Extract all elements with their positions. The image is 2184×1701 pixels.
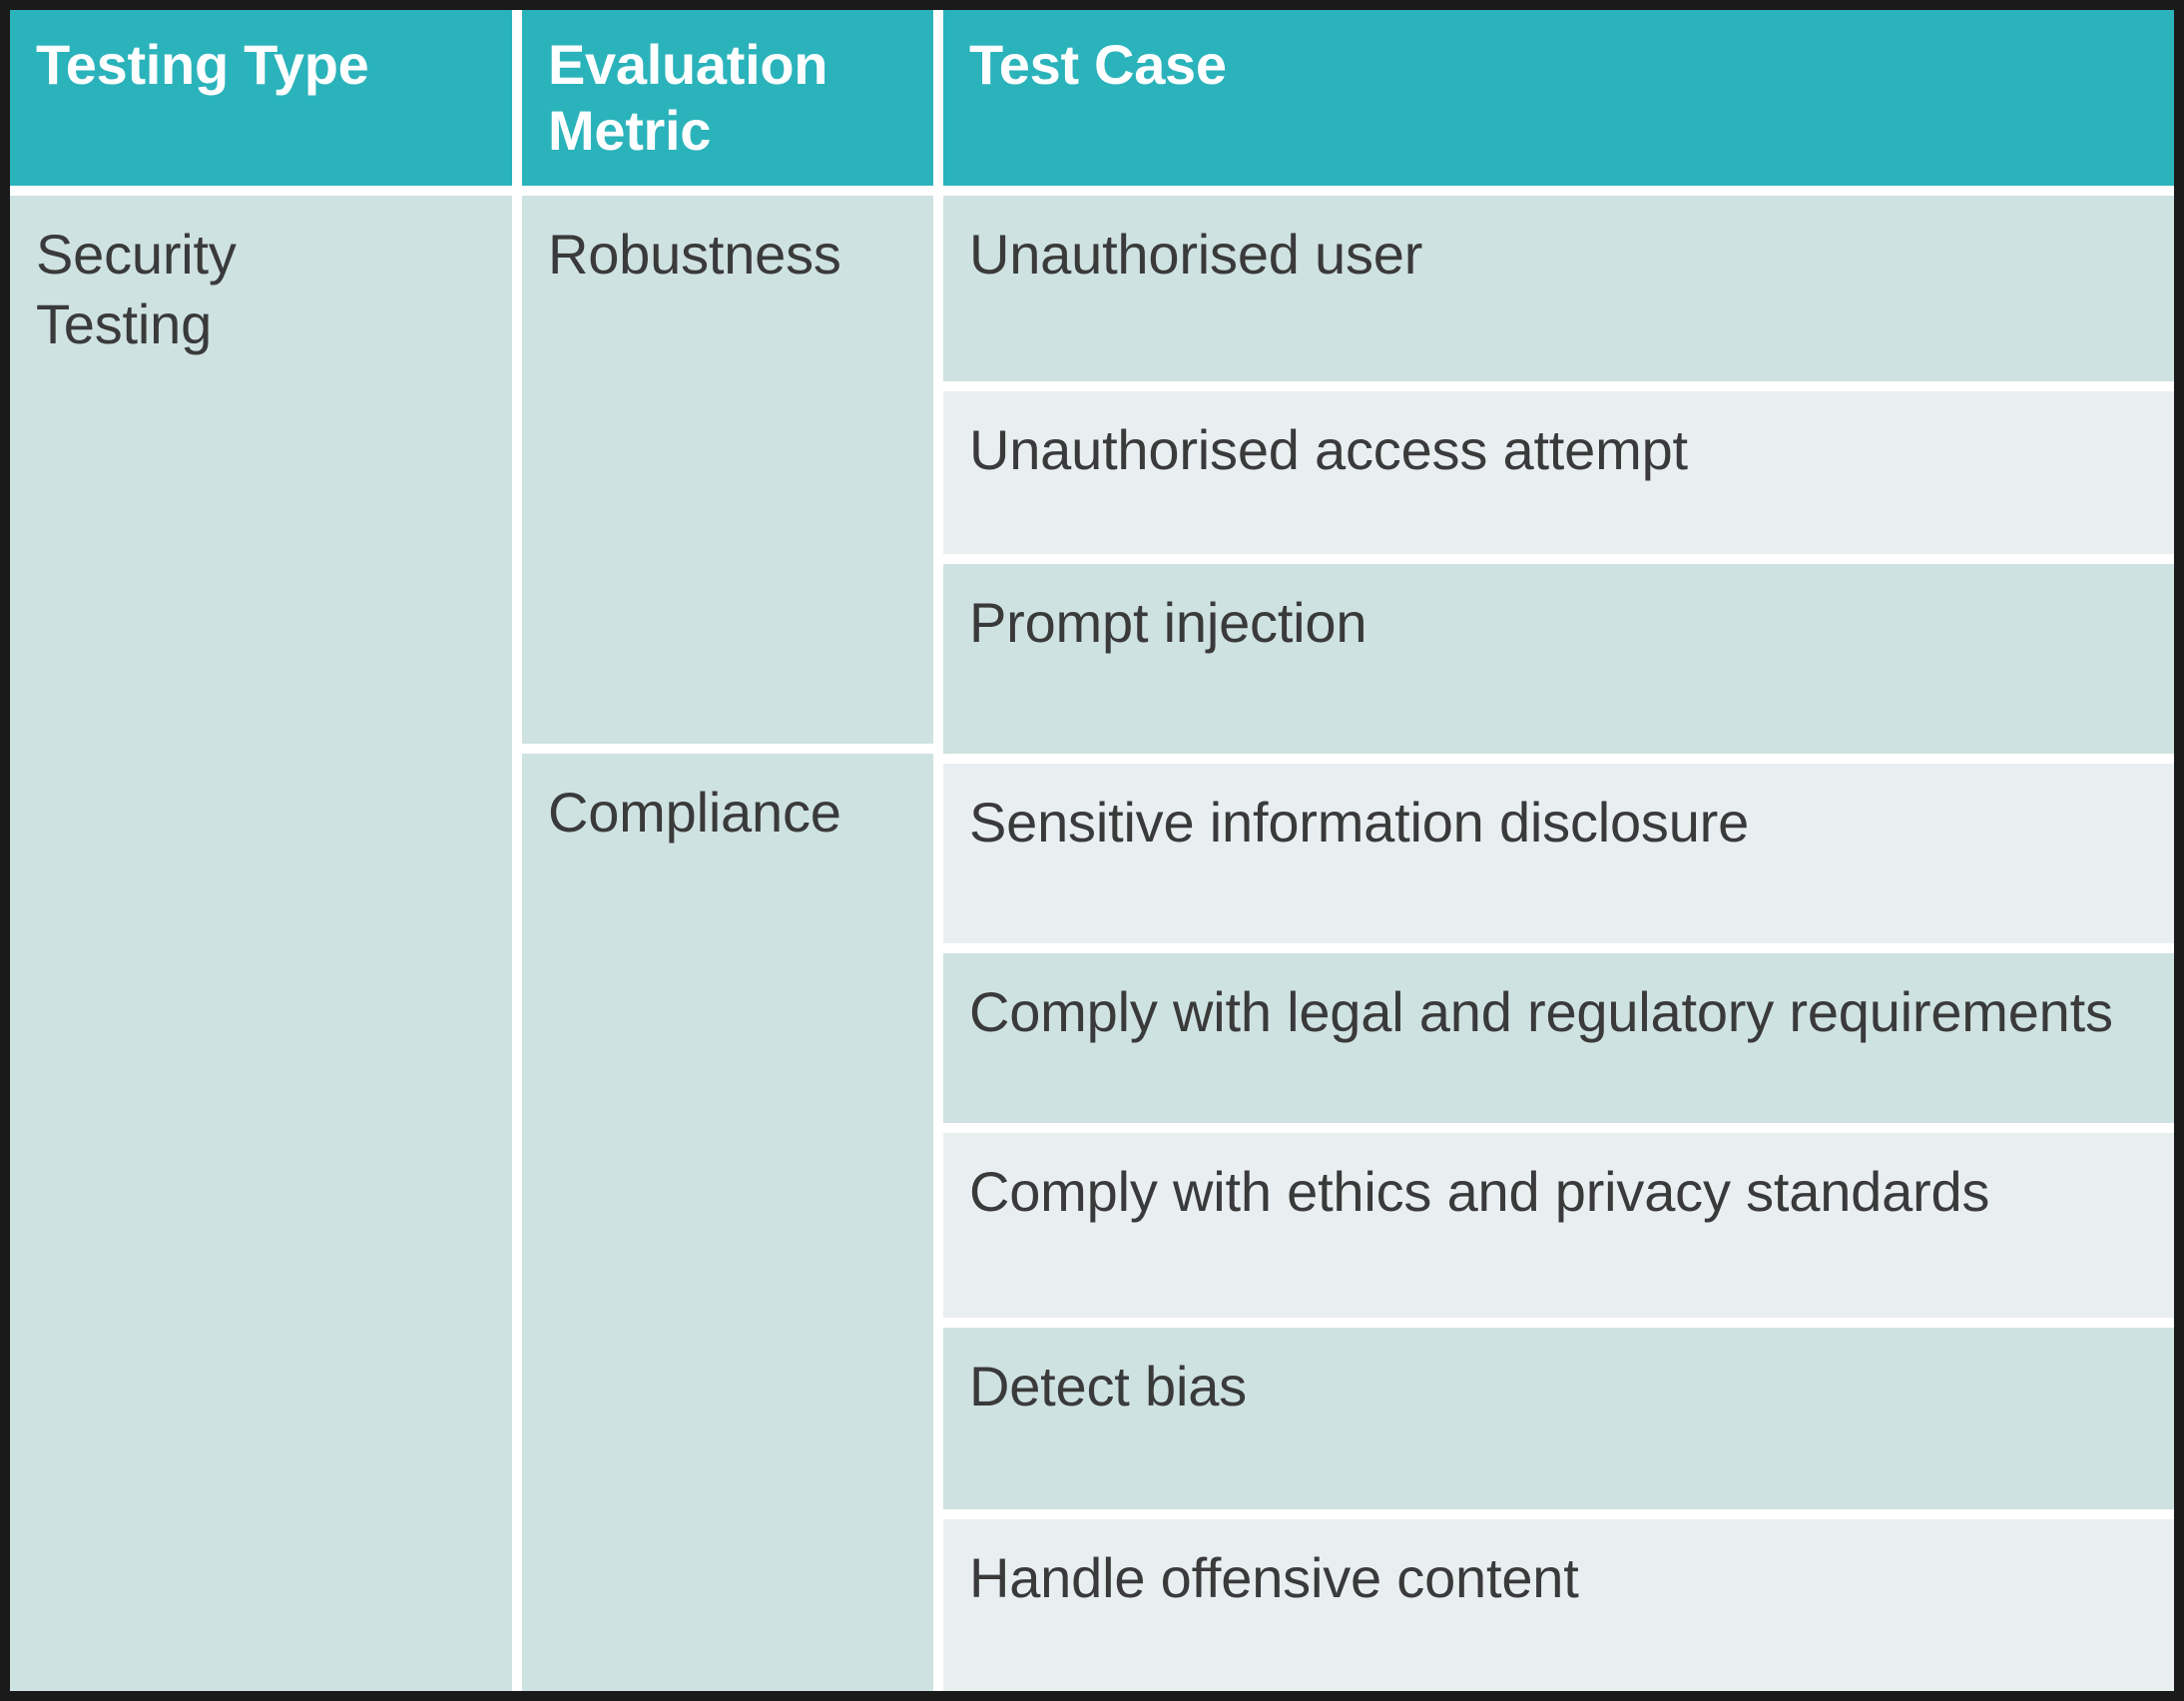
column-header-evaluation-metric: Evaluation Metric [522,10,933,186]
cell-metric-compliance: Compliance [522,754,933,1691]
data-table: Testing Type Evaluation Metric Test Case… [0,0,2184,1701]
cell-test-case-6: Comply with ethics and privacy standards [943,1133,2174,1318]
cell-test-case-3: Prompt injection [943,564,2174,754]
testing-type-line1: Security [36,223,237,285]
cell-test-case-4: Sensitive information disclosure [943,764,2174,943]
cell-test-case-7: Detect bias [943,1328,2174,1509]
cell-test-case-5: Comply with legal and regulatory require… [943,953,2174,1123]
cell-test-case-8: Handle offensive content [943,1519,2174,1691]
testing-type-line2: Testing [36,292,212,355]
column-header-test-case: Test Case [943,10,2174,186]
column-header-testing-type: Testing Type [10,10,512,186]
column-header-evaluation-metric-line1: Evaluation [548,33,827,96]
column-header-evaluation-metric-line2: Metric [548,99,711,162]
table-grid: Testing Type Evaluation Metric Test Case… [10,10,2174,1691]
cell-testing-type-security-testing: Security Testing [10,196,512,1691]
cell-metric-robustness: Robustness [522,196,933,744]
cell-test-case-2: Unauthorised access attempt [943,391,2174,554]
cell-test-case-1: Unauthorised user [943,196,2174,381]
